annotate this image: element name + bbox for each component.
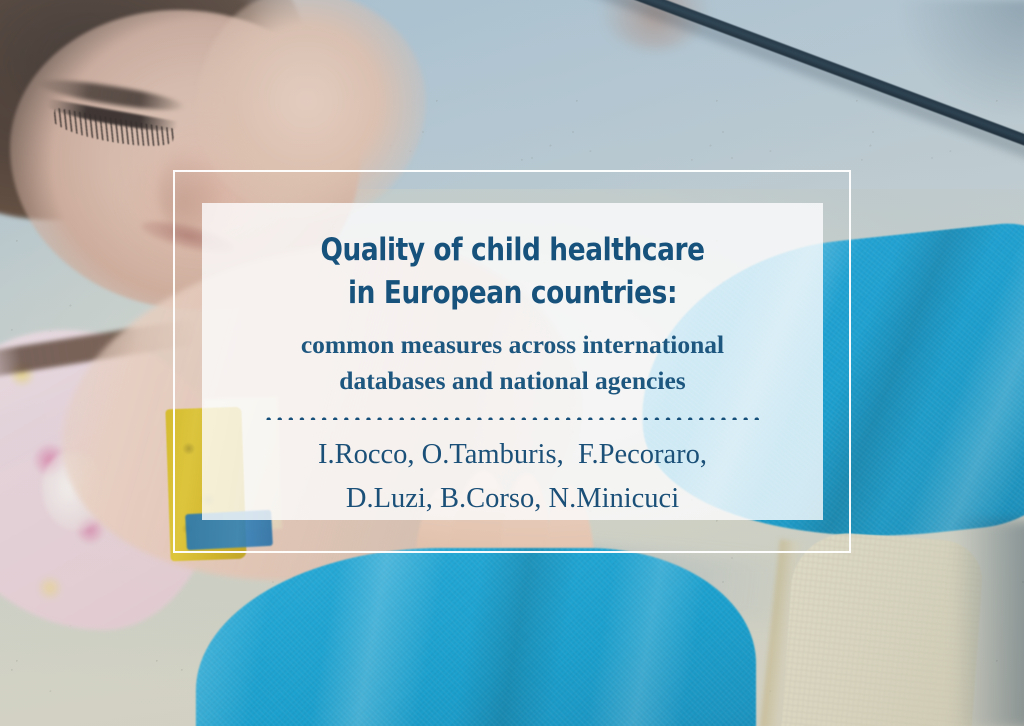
title-slide: Quality of child healthcare in European … bbox=[0, 0, 1024, 726]
author-line-2: D.Luzi, B.Corso, N.Minicuci bbox=[318, 477, 707, 520]
content-panel: Quality of child healthcare in European … bbox=[202, 203, 823, 520]
author-line-1: I.Rocco, O.Tamburis, F.Pecoraro, bbox=[318, 433, 707, 476]
page-subtitle: common measures across international dat… bbox=[301, 327, 724, 400]
title-line-2: in European countries: bbox=[320, 272, 704, 315]
subtitle-line-2: databases and national agencies bbox=[301, 363, 724, 400]
right-edge-shadow bbox=[952, 520, 1024, 726]
dotted-divider bbox=[266, 417, 760, 420]
author-list: I.Rocco, O.Tamburis, F.Pecoraro, D.Luzi,… bbox=[318, 433, 707, 520]
title-line-1: Quality of child healthcare bbox=[320, 229, 704, 272]
subtitle-line-1: common measures across international bbox=[301, 327, 724, 364]
page-title: Quality of child healthcare in European … bbox=[320, 229, 704, 315]
